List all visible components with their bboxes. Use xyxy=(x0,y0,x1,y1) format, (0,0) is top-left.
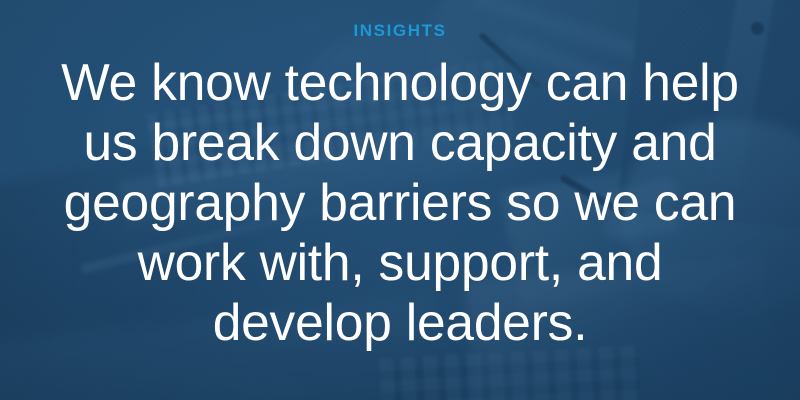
slide-content: INSIGHTS We know technology can help us … xyxy=(0,0,800,400)
headline-line-3: geography barriers so we can xyxy=(9,173,791,233)
headline-quote: We know technology can help us break dow… xyxy=(9,53,791,353)
headline-line-5: develop leaders. xyxy=(9,293,791,353)
eyebrow-label: INSIGHTS xyxy=(353,22,446,39)
headline-line-2: us break down capacity and xyxy=(9,113,791,173)
headline-line-1: We know technology can help xyxy=(9,53,791,113)
insights-quote-slide: INSIGHTS We know technology can help us … xyxy=(0,0,800,400)
headline-line-4: work with, support, and xyxy=(9,233,791,293)
